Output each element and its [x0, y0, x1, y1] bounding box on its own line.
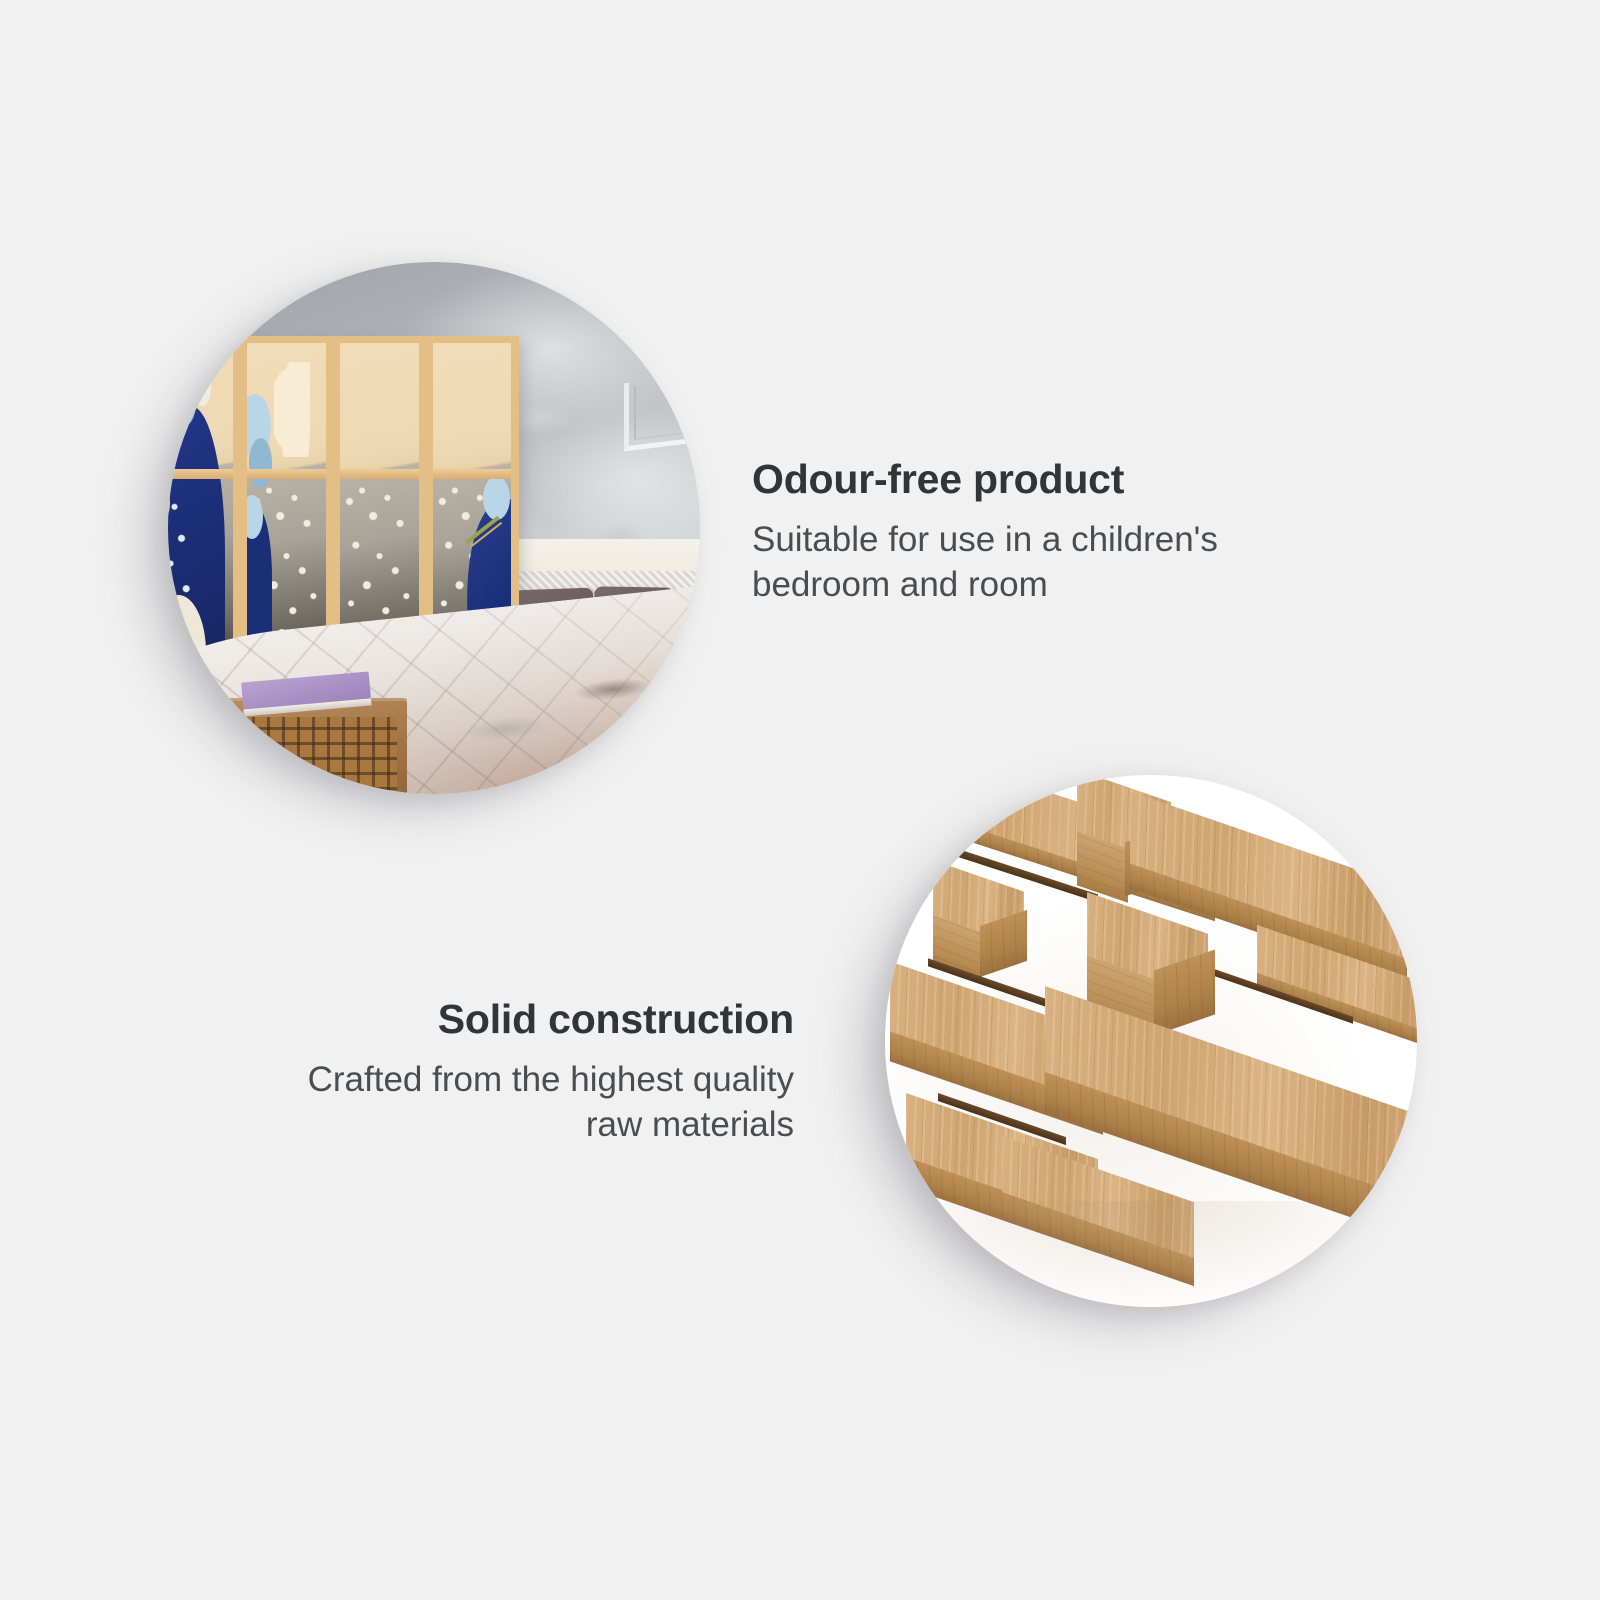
- feature-copy-odour-free: Odour-free product Suitable for use in a…: [752, 458, 1292, 608]
- bench-weave: [237, 717, 396, 794]
- feature-subtitle: Crafted from the highest quality raw mat…: [254, 1058, 794, 1148]
- bedroom-scene: [168, 262, 700, 794]
- lumber-floor-shadow: [885, 1201, 1417, 1307]
- screen-mullion: [338, 469, 420, 479]
- wave-foam-dots: [168, 343, 233, 658]
- lumber-scene: [885, 775, 1417, 1307]
- feature-copy-solid-construction: Solid construction Crafted from the high…: [254, 998, 794, 1148]
- wave-artwork: [168, 343, 233, 658]
- feature-image-bedroom-screen: [168, 262, 700, 794]
- feature-image-wooden-beams: [885, 775, 1417, 1307]
- feature-subtitle-line: bedroom and room: [752, 563, 1292, 608]
- wave-crest: [241, 495, 263, 539]
- wave-crest: [483, 476, 510, 520]
- screen-hinge: [241, 507, 247, 529]
- wave-artwork: [247, 343, 326, 658]
- feature-title: Solid construction: [254, 998, 794, 1041]
- screen-panel: [241, 336, 334, 666]
- feature-title: Odour-free product: [752, 458, 1292, 501]
- product-feature-infographic: Odour-free product Suitable for use in a…: [0, 0, 1600, 1600]
- picture-frame: [624, 375, 696, 452]
- screen-mullion: [168, 469, 235, 479]
- feature-subtitle: Suitable for use in a children's bedroom…: [752, 518, 1292, 608]
- screen-mullion: [431, 469, 513, 479]
- feature-subtitle-line: Crafted from the highest quality: [254, 1058, 794, 1103]
- screen-panel: [168, 336, 241, 666]
- screen-mullion: [246, 469, 328, 479]
- wave-artwork: [340, 343, 419, 658]
- screen-hinge: [334, 507, 340, 529]
- screen-hinge: [427, 507, 433, 529]
- print-cloud: [274, 362, 310, 456]
- wood-beam: [1257, 956, 1417, 1052]
- feature-subtitle-line: Suitable for use in a children's: [752, 518, 1292, 563]
- feature-subtitle-line: raw materials: [254, 1103, 794, 1148]
